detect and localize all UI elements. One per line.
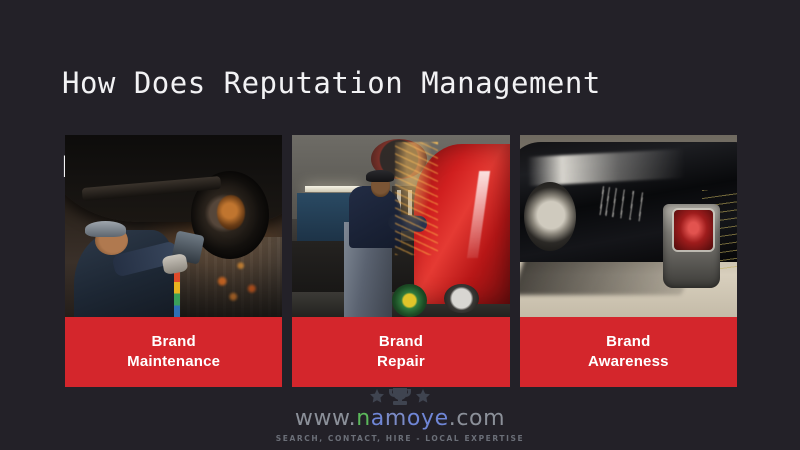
card-label-line-1: Brand <box>379 332 423 352</box>
logo-tagline: SEARCH, CONTACT, HIRE - LOCAL EXPERTISE <box>276 434 525 443</box>
mechanic-grinding-red-car-illustration <box>292 135 509 317</box>
card-photo-brand-maintenance <box>65 135 282 317</box>
card-row: Brand Maintenance <box>65 135 737 387</box>
logo-letter-o: o <box>407 406 421 431</box>
logo-letter-m: m <box>385 406 407 431</box>
logo-letter-n: n <box>356 406 371 431</box>
logo-prefix: www. <box>295 406 356 431</box>
card-label-brand-repair: Brand Repair <box>292 317 509 387</box>
card-brand-maintenance[interactable]: Brand Maintenance <box>65 135 282 387</box>
site-logo[interactable]: www.namoye.com <box>295 407 505 431</box>
logo-letter-y: y <box>421 406 435 431</box>
card-photo-brand-awareness <box>520 135 737 317</box>
card-label-brand-awareness: Brand Awareness <box>520 317 737 387</box>
logo-letter-e: e <box>435 406 449 431</box>
slide-canvas: How Does Reputation Management Help To S… <box>0 0 800 450</box>
card-brand-repair[interactable]: Brand Repair <box>292 135 509 387</box>
card-label-line-1: Brand <box>606 332 650 352</box>
card-photo-brand-repair <box>292 135 509 317</box>
star-icon-left <box>370 389 384 403</box>
garage-mechanic-under-car-illustration <box>65 135 282 317</box>
card-label-brand-maintenance: Brand Maintenance <box>65 317 282 387</box>
logo-suffix: .com <box>449 406 505 431</box>
logo-letter-a: a <box>371 406 385 431</box>
black-classic-car-rear-illustration <box>520 135 737 317</box>
star-icon-right <box>416 389 430 403</box>
page-title-line-1: How Does Reputation Management <box>62 62 762 104</box>
footer-branding: www.namoye.com SEARCH, CONTACT, HIRE - L… <box>0 388 800 450</box>
card-brand-awareness[interactable]: Brand Awareness <box>520 135 737 387</box>
card-label-line-2: Repair <box>377 352 425 372</box>
card-label-line-2: Awareness <box>588 352 669 372</box>
card-label-line-2: Maintenance <box>127 352 220 372</box>
trophy-icon <box>389 388 411 405</box>
trophy-and-stars-mark <box>365 388 435 405</box>
card-label-line-1: Brand <box>151 332 195 352</box>
